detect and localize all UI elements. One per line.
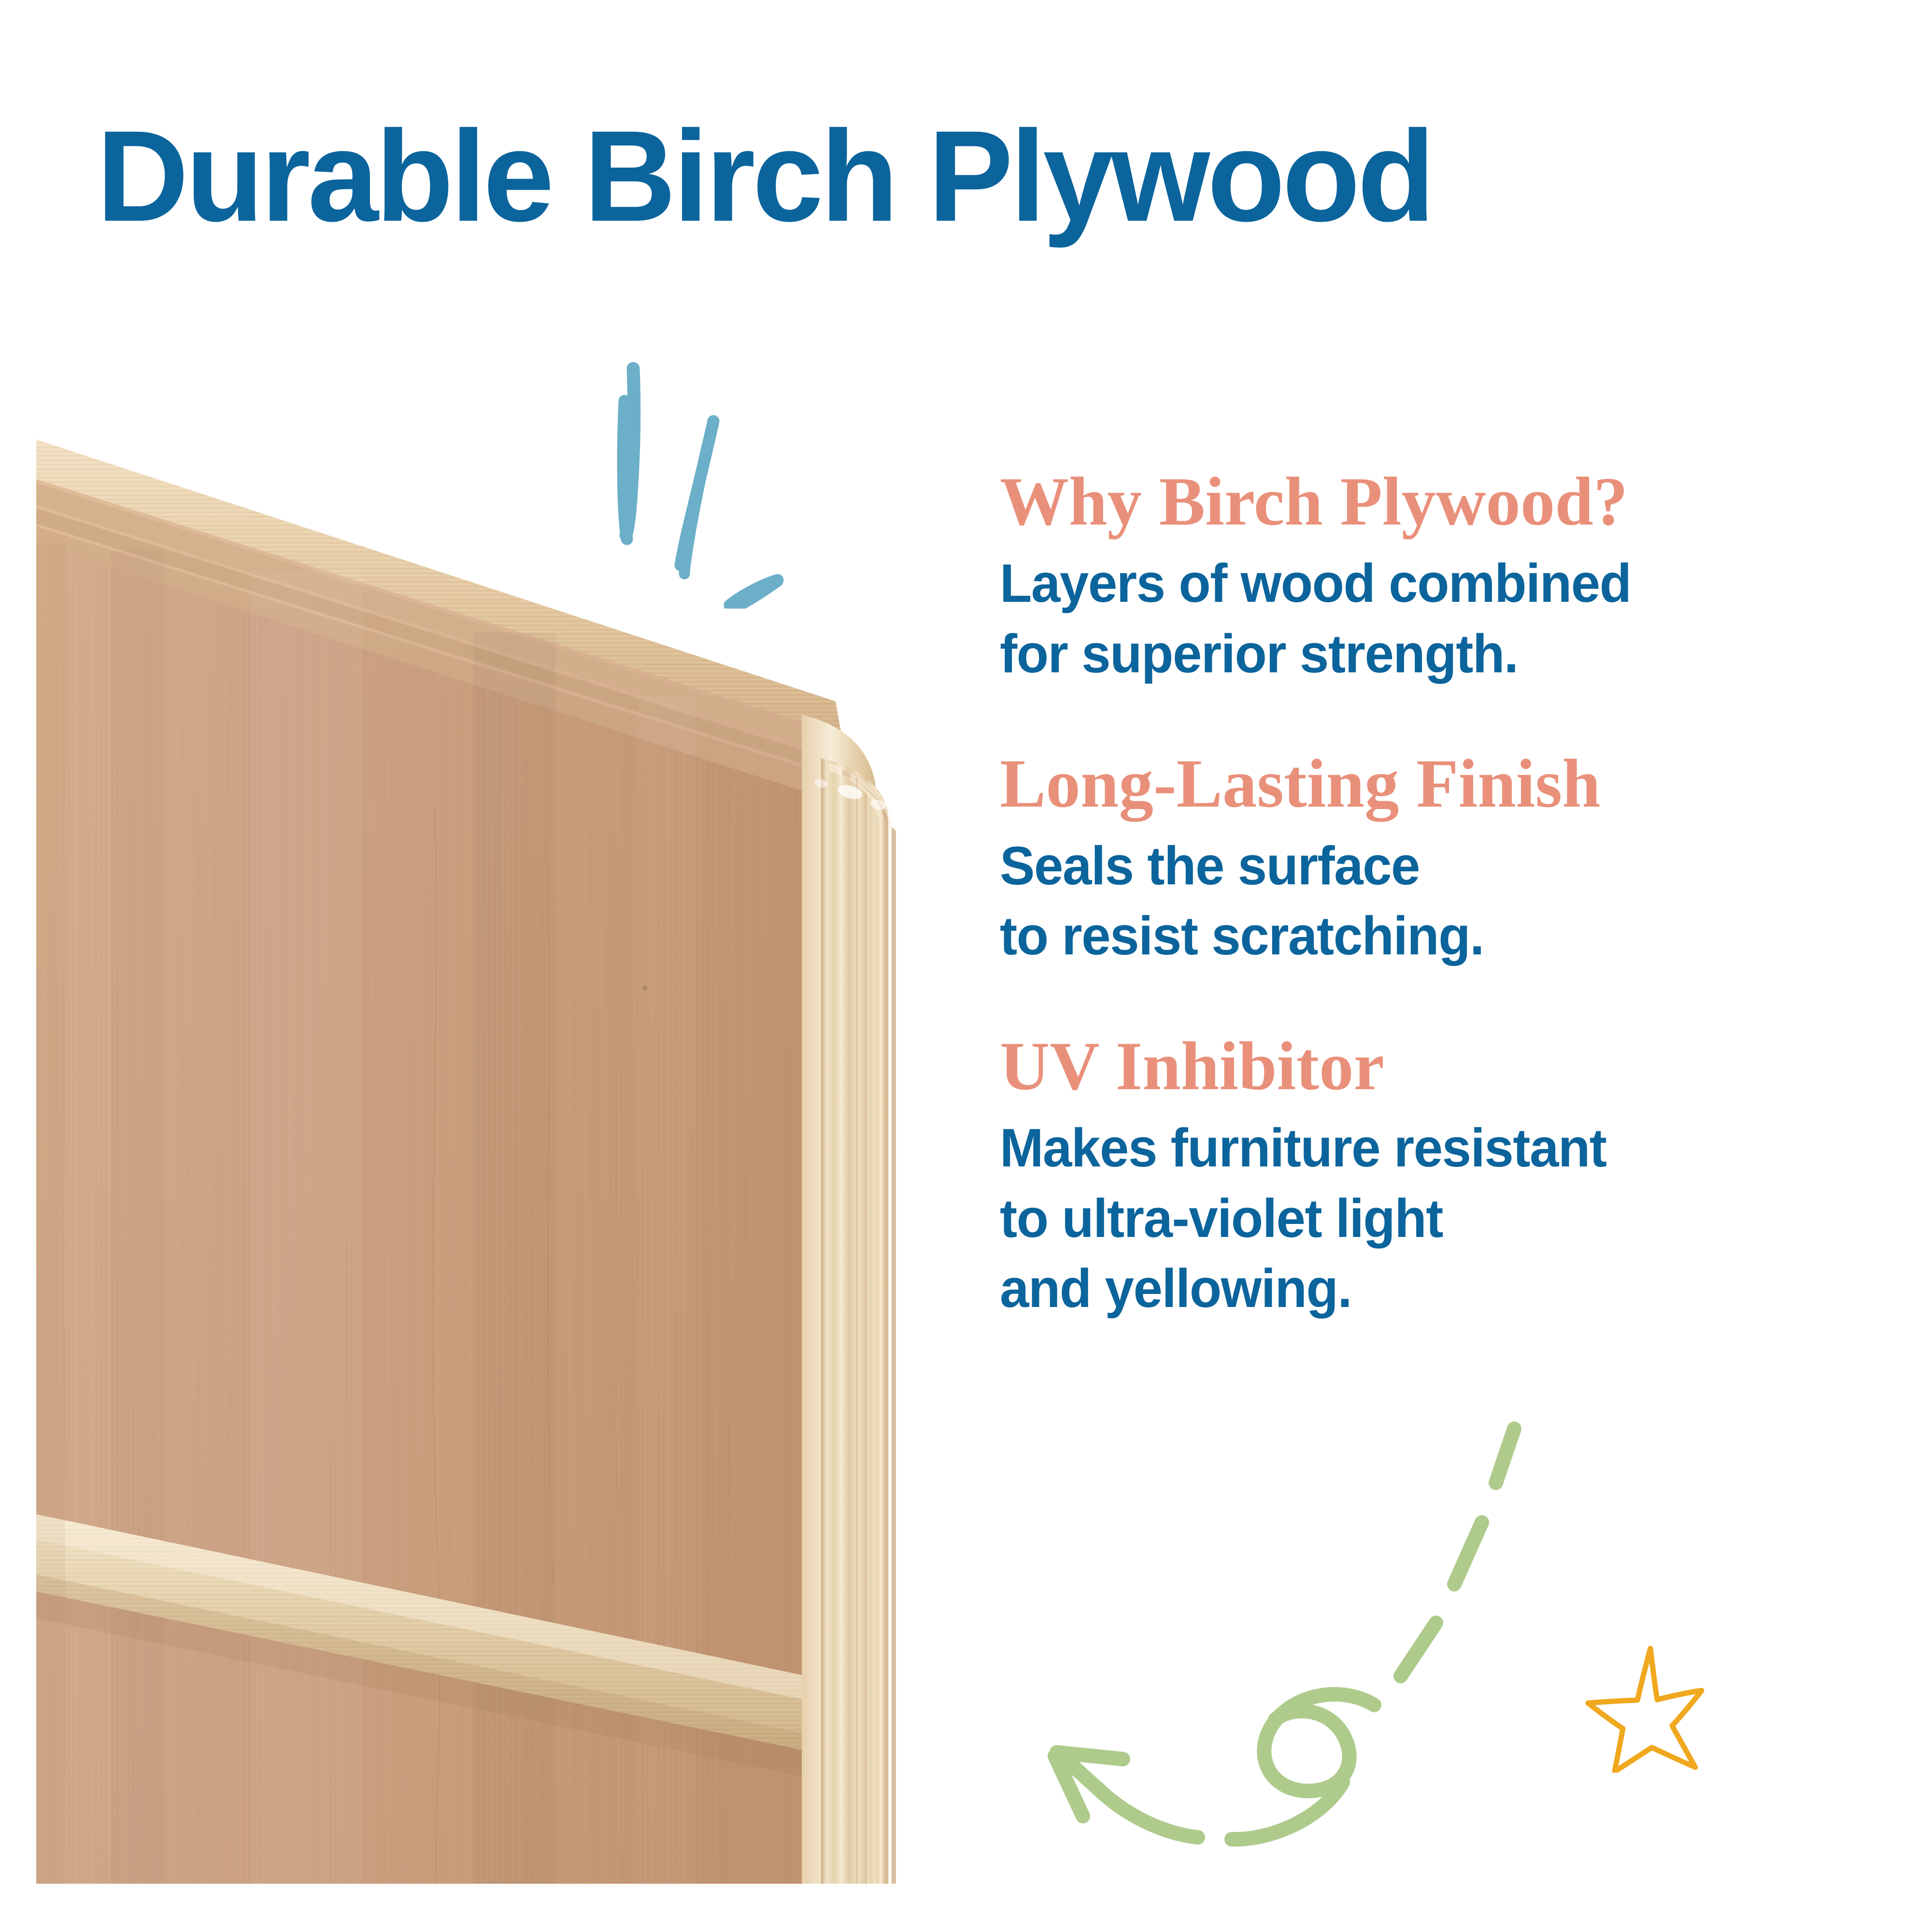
product-photo	[0, 425, 908, 1898]
feature-block: Why Birch Plywood? Layers of wood combin…	[1000, 464, 1884, 689]
promo-graphic: Durable Birch Plywood	[0, 0, 1932, 1932]
arrow-dash-1	[1496, 1429, 1514, 1483]
feature-body-line: and yellowing.	[1000, 1253, 1857, 1324]
arrow-dash-3	[1401, 1623, 1436, 1676]
feature-heading: UV Inhibitor	[1000, 1028, 1884, 1104]
feature-list: Why Birch Plywood? Layers of wood combin…	[1000, 464, 1884, 1324]
feature-body-line: Layers of wood combined	[1000, 548, 1857, 619]
arrowhead-barb-lower	[1055, 1756, 1083, 1816]
feature-body-line: to ultra-violet light	[1000, 1183, 1857, 1254]
arrow-main-curve	[1232, 1782, 1343, 1839]
page-title: Durable Birch Plywood	[97, 111, 1833, 241]
feature-body-line: for superior strength.	[1000, 619, 1857, 689]
feature-body: Seals the surface to resist scratching.	[1000, 831, 1857, 971]
feature-block: Long-Lasting Finish Seals the surface to…	[1000, 746, 1884, 971]
arrow-dash-2	[1454, 1522, 1482, 1584]
feature-body-line: Seals the surface	[1000, 831, 1857, 901]
wood-knot	[642, 985, 647, 990]
feature-block: UV Inhibitor Makes furniture resistant t…	[1000, 1028, 1884, 1324]
arrow-curve-dash	[1096, 1787, 1198, 1837]
feature-body: Makes furniture resistant to ultra-viole…	[1000, 1113, 1857, 1324]
feature-body-line: Makes furniture resistant	[1000, 1113, 1857, 1183]
hand-drawn-star-icon	[1579, 1633, 1719, 1773]
curved-dashed-arrow	[1005, 1415, 1575, 1850]
plywood-edge-band	[821, 758, 888, 1884]
arrowhead-stroke-1	[1059, 1753, 1099, 1790]
feature-body: Layers of wood combined for superior str…	[1000, 548, 1857, 689]
feature-body-line: to resist scratching.	[1000, 901, 1857, 971]
arrowhead-barb-upper	[1057, 1752, 1123, 1759]
arrow-loop	[1264, 1694, 1374, 1791]
birch-plywood-photo-illustration	[0, 425, 908, 1898]
feature-heading: Long-Lasting Finish	[1000, 746, 1884, 822]
feature-heading: Why Birch Plywood?	[1000, 464, 1884, 540]
